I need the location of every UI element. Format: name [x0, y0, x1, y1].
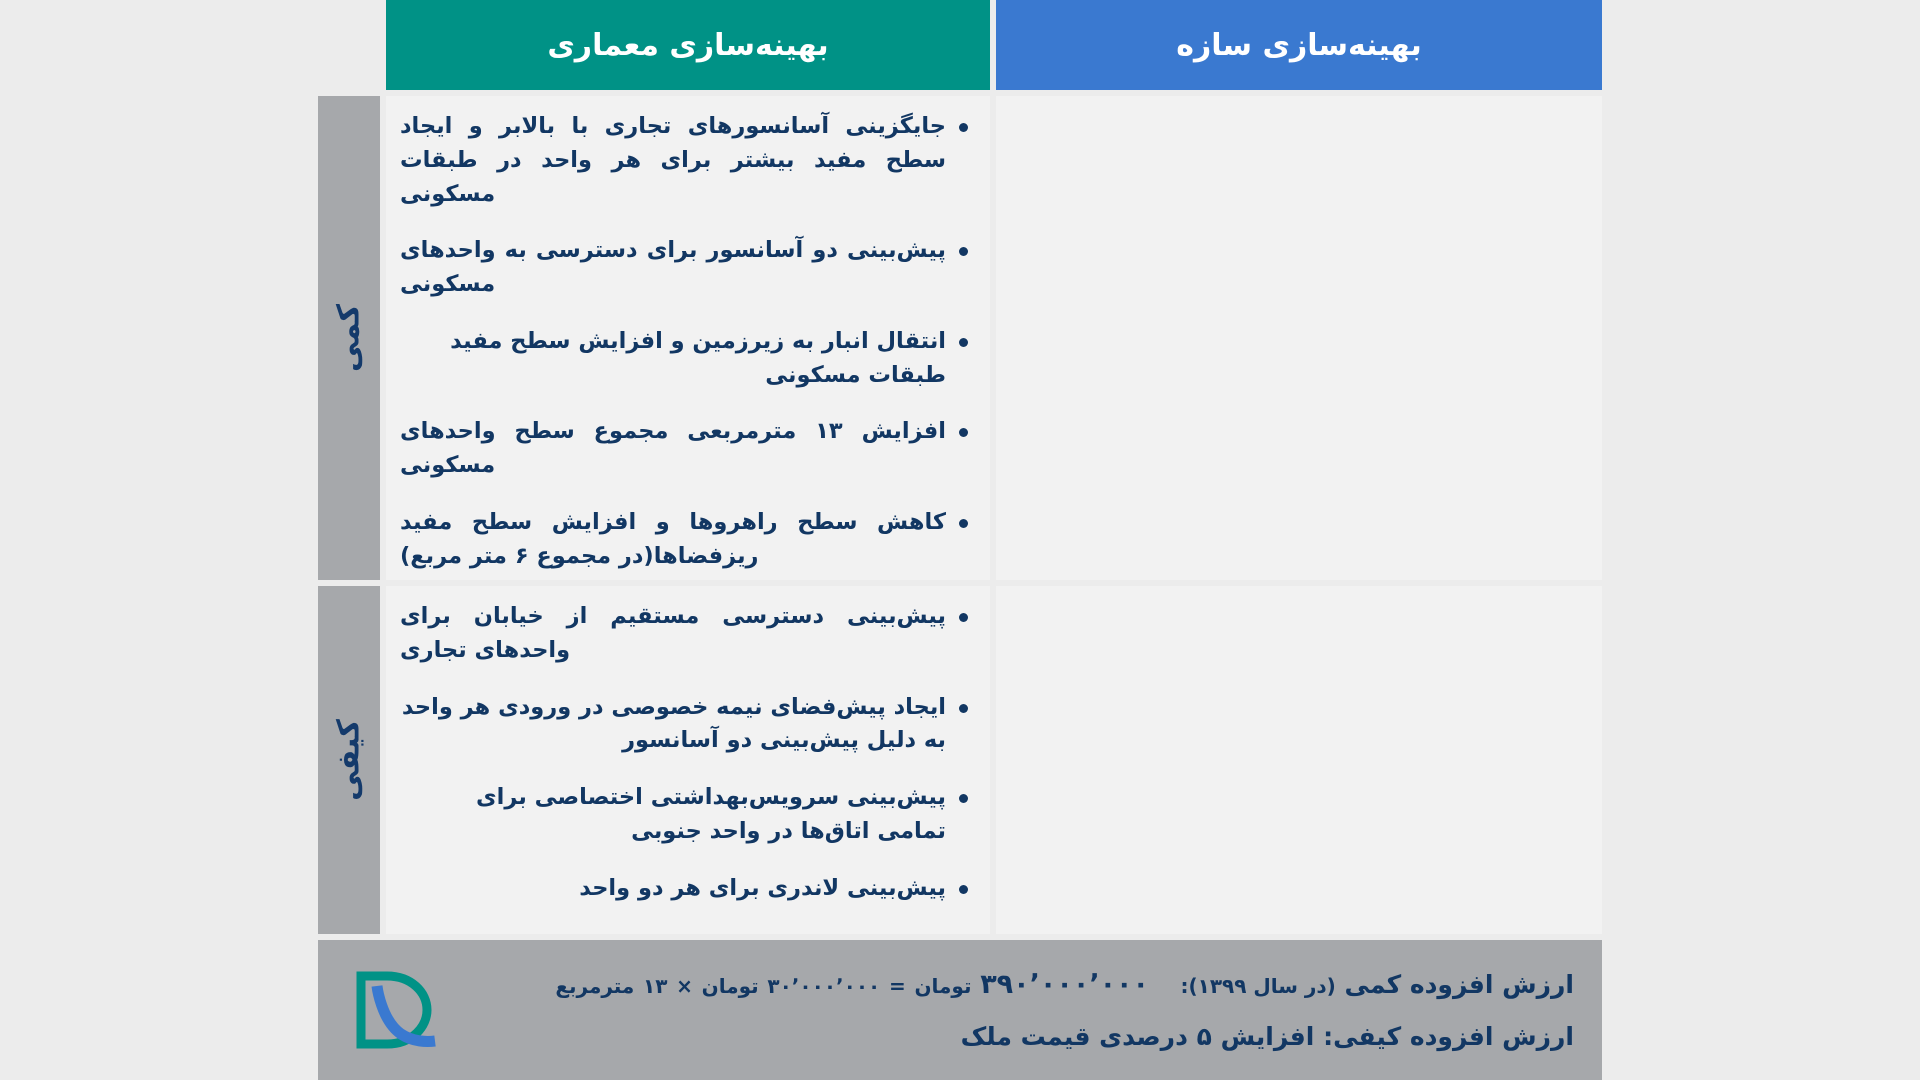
table-header-row: بهینه‌سازی سازه بهینه‌سازی معماری — [318, 0, 1602, 90]
cell-architecture-qualitative: پیش‌بینی دسترسی مستقیم از خیابان برای وا… — [386, 586, 990, 934]
dl-logo-icon — [347, 964, 439, 1056]
list-item: انتقال انبار به زیرزمین و افزایش سطح مفی… — [400, 325, 972, 393]
footer-quant-title: ارزش افزوده کمی — [1345, 970, 1574, 999]
bullet-list-qualitative: پیش‌بینی دسترسی مستقیم از خیابان برای وا… — [400, 600, 972, 905]
footer-text-block: ارزش افزوده کمی (در سال ۱۳۹۹): ۳۹۰٬۰۰۰٬۰… — [468, 969, 1602, 1051]
footer-quant-unit-price: ۳۰٬۰۰۰٬۰۰۰ — [767, 974, 880, 998]
cell-architecture-quantitative: جایگزینی آسانسورهای تجاری با بالابر و ای… — [386, 96, 990, 580]
footer-qualitative-line: ارزش افزوده کیفی: افزایش ۵ درصدی قیمت مل… — [468, 1022, 1574, 1051]
footer-quant-unit-currency: تومان — [702, 974, 759, 998]
footer-quant-area: ۱۳ — [643, 974, 667, 998]
list-item: کاهش سطح راهروها و افزایش سطح مفید ریزفض… — [400, 506, 972, 574]
list-item: افزایش ۱۳ مترمربعی مجموع سطح واحدهای مسک… — [400, 415, 972, 483]
list-item: پیش‌بینی دو آسانسور برای دسترسی به واحده… — [400, 234, 972, 302]
column-header-structure: بهینه‌سازی سازه — [996, 0, 1602, 90]
side-label-quantitative: کمی — [318, 96, 380, 580]
footer-qual-title: ارزش افزوده کیفی: — [1323, 1022, 1574, 1051]
footer-quant-currency: تومان — [914, 974, 971, 998]
list-item: پیش‌بینی لاندری برای هر دو واحد — [400, 872, 972, 906]
footer-quant-area-unit: مترمربع — [555, 974, 634, 998]
footer-quant-amount: ۳۹۰٬۰۰۰٬۰۰۰ — [980, 969, 1149, 1000]
list-item: پیش‌بینی دسترسی مستقیم از خیابان برای وا… — [400, 600, 972, 668]
side-label-text: کمی — [332, 304, 367, 372]
list-item: جایگزینی آسانسورهای تجاری با بالابر و ای… — [400, 110, 972, 211]
page-root: بهینه‌سازی سازه بهینه‌سازی معماری جایگزی… — [0, 0, 1920, 1080]
optimization-table: بهینه‌سازی سازه بهینه‌سازی معماری جایگزی… — [318, 0, 1602, 1080]
cell-structure-quantitative — [996, 96, 1602, 580]
brand-logo — [318, 940, 468, 1080]
table-row: جایگزینی آسانسورهای تجاری با بالابر و ای… — [318, 96, 1602, 580]
footer-summary: ارزش افزوده کمی (در سال ۱۳۹۹): ۳۹۰٬۰۰۰٬۰… — [318, 940, 1602, 1080]
header-spacer — [318, 0, 386, 90]
footer-quant-year: (در سال ۱۳۹۹): — [1180, 974, 1335, 998]
column-header-architecture: بهینه‌سازی معماری — [386, 0, 990, 90]
table-row: پیش‌بینی دسترسی مستقیم از خیابان برای وا… — [318, 586, 1602, 934]
list-item: پیش‌بینی سرویس‌بهداشتی اختصاصی برای تمام… — [400, 781, 972, 849]
footer-quant-equals: = — [889, 974, 906, 998]
side-label-text: کیفی — [332, 719, 367, 801]
footer-qual-text: افزایش ۵ درصدی قیمت ملک — [961, 1022, 1315, 1051]
footer-quant-times: × — [676, 974, 693, 998]
bullet-list-quantitative: جایگزینی آسانسورهای تجاری با بالابر و ای… — [400, 110, 972, 573]
cell-structure-qualitative — [996, 586, 1602, 934]
footer-quantitative-line: ارزش افزوده کمی (در سال ۱۳۹۹): ۳۹۰٬۰۰۰٬۰… — [468, 969, 1574, 1000]
list-item: ایجاد پیش‌فضای نیمه خصوصی در ورودی هر وا… — [400, 691, 972, 759]
side-label-qualitative: کیفی — [318, 586, 380, 934]
